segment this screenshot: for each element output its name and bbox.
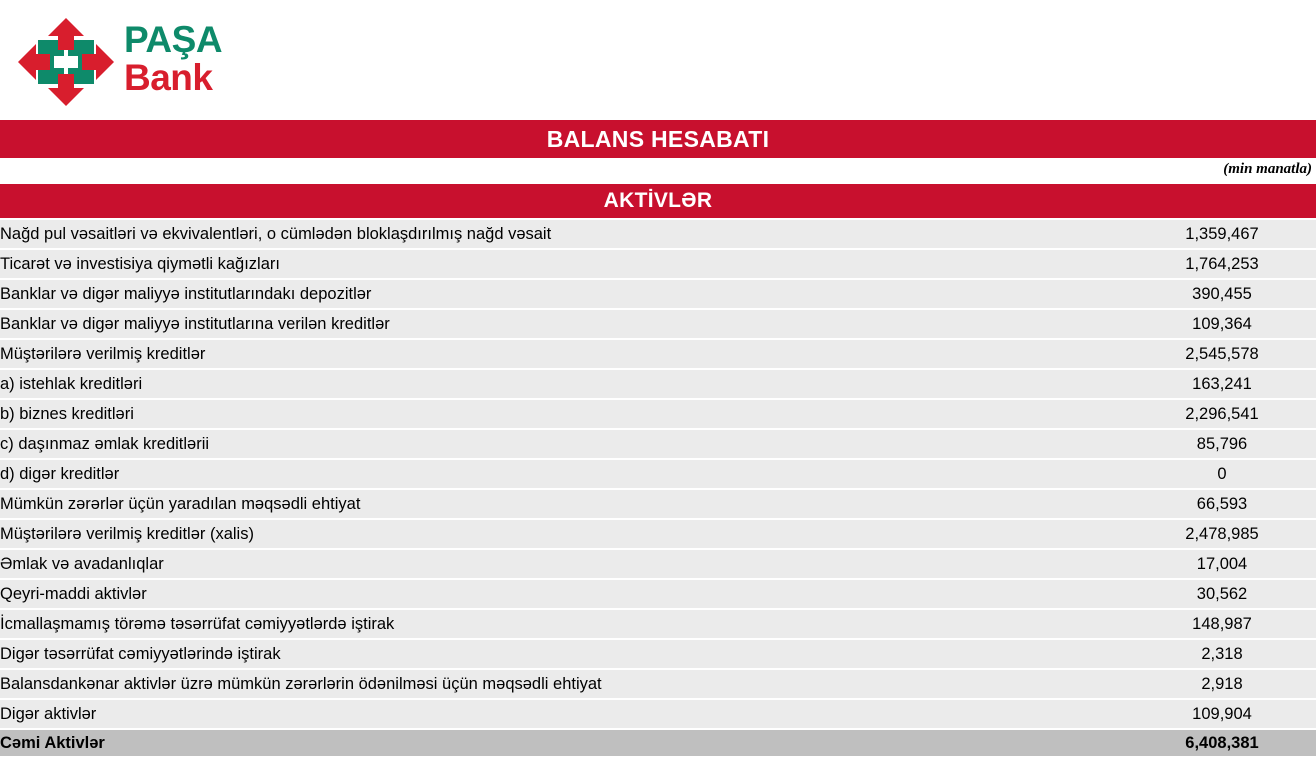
row-spacer-cell bbox=[1090, 520, 1128, 548]
row-label: Nağd pul vəsaitləri və ekvivalentləri, o… bbox=[0, 220, 1090, 248]
table-row: Banklar və digər maliyyə institutlarında… bbox=[0, 280, 1316, 308]
table-row: Mümkün zərərlər üçün yaradılan məqsədli … bbox=[0, 490, 1316, 518]
report-title: BALANS HESABATI bbox=[0, 120, 1316, 158]
row-spacer-cell bbox=[1090, 550, 1128, 578]
table-row: c) daşınmaz əmlak kreditlərii85,796 bbox=[0, 430, 1316, 458]
row-spacer-cell bbox=[1090, 670, 1128, 698]
row-spacer-cell bbox=[1090, 490, 1128, 518]
row-label: Müştərilərə verilmiş kreditlər (xalis) bbox=[0, 520, 1090, 548]
table-row: Qeyri-maddi aktivlər30,562 bbox=[0, 580, 1316, 608]
currency-unit-note: (min manatla) bbox=[1223, 161, 1312, 178]
row-label: a) istehlak kreditləri bbox=[0, 370, 1090, 398]
row-spacer-cell bbox=[1090, 430, 1128, 458]
table-row: Banklar və digər maliyyə institutlarına … bbox=[0, 310, 1316, 338]
total-value: 6,408,381 bbox=[1128, 730, 1316, 756]
row-spacer-cell bbox=[1090, 280, 1128, 308]
row-value: 85,796 bbox=[1128, 430, 1316, 458]
row-value: 148,987 bbox=[1128, 610, 1316, 638]
row-spacer-cell bbox=[1090, 580, 1128, 608]
row-spacer-cell bbox=[1090, 610, 1128, 638]
row-value: 30,562 bbox=[1128, 580, 1316, 608]
table-row: a) istehlak kreditləri163,241 bbox=[0, 370, 1316, 398]
row-label: Digər təsərrüfat cəmiyyətlərində iştirak bbox=[0, 640, 1090, 668]
row-value: 2,918 bbox=[1128, 670, 1316, 698]
section-header-assets: AKTİVLƏR bbox=[0, 184, 1316, 218]
brand-word-pasha: PAŞA bbox=[124, 22, 222, 58]
table-row: Müştərilərə verilmiş kreditlər2,545,578 bbox=[0, 340, 1316, 368]
row-spacer-cell bbox=[1090, 340, 1128, 368]
unit-note-row: (min manatla) bbox=[0, 158, 1316, 184]
row-label: Banklar və digər maliyyə institutlarına … bbox=[0, 310, 1090, 338]
row-value: 66,593 bbox=[1128, 490, 1316, 518]
row-value: 109,904 bbox=[1128, 700, 1316, 728]
row-spacer-cell bbox=[1090, 370, 1128, 398]
row-value: 109,364 bbox=[1128, 310, 1316, 338]
row-spacer-cell bbox=[1090, 310, 1128, 338]
row-label: c) daşınmaz əmlak kreditlərii bbox=[0, 430, 1090, 458]
row-value: 0 bbox=[1128, 460, 1316, 488]
table-row: d) digər kreditlər0 bbox=[0, 460, 1316, 488]
row-label: İcmallaşmamış törəmə təsərrüfat cəmiyyət… bbox=[0, 610, 1090, 638]
row-label: d) digər kreditlər bbox=[0, 460, 1090, 488]
row-label: Qeyri-maddi aktivlər bbox=[0, 580, 1090, 608]
row-value: 163,241 bbox=[1128, 370, 1316, 398]
row-label: Digər aktivlər bbox=[0, 700, 1090, 728]
table-row: Digər təsərrüfat cəmiyyətlərində iştirak… bbox=[0, 640, 1316, 668]
brand-word-bank: Bank bbox=[124, 60, 222, 96]
pasha-pinwheel-logo-icon bbox=[16, 16, 116, 108]
table-row: Digər aktivlər109,904 bbox=[0, 700, 1316, 728]
brand-header: PAŞA Bank bbox=[0, 0, 1316, 120]
row-value: 390,455 bbox=[1128, 280, 1316, 308]
row-value: 17,004 bbox=[1128, 550, 1316, 578]
row-label: Müştərilərə verilmiş kreditlər bbox=[0, 340, 1090, 368]
row-spacer-cell bbox=[1090, 400, 1128, 428]
row-label: Ticarət və investisiya qiymətli kağızlar… bbox=[0, 250, 1090, 278]
row-value: 2,478,985 bbox=[1128, 520, 1316, 548]
table-row: Müştərilərə verilmiş kreditlər (xalis)2,… bbox=[0, 520, 1316, 548]
row-value: 1,359,467 bbox=[1128, 220, 1316, 248]
row-value: 2,545,578 bbox=[1128, 340, 1316, 368]
balance-sheet-table: Nağd pul vəsaitləri və ekvivalentləri, o… bbox=[0, 218, 1316, 758]
row-spacer-cell bbox=[1090, 700, 1128, 728]
row-value: 1,764,253 bbox=[1128, 250, 1316, 278]
brand-wordmark: PAŞA Bank bbox=[124, 22, 222, 97]
table-row: Nağd pul vəsaitləri və ekvivalentləri, o… bbox=[0, 220, 1316, 248]
row-label: Balansdankənar aktivlər üzrə mümkün zərə… bbox=[0, 670, 1090, 698]
row-value: 2,296,541 bbox=[1128, 400, 1316, 428]
row-label: Mümkün zərərlər üçün yaradılan məqsədli … bbox=[0, 490, 1090, 518]
row-value: 2,318 bbox=[1128, 640, 1316, 668]
row-spacer-cell bbox=[1090, 250, 1128, 278]
row-spacer-cell bbox=[1090, 220, 1128, 248]
row-label: Əmlak və avadanlıqlar bbox=[0, 550, 1090, 578]
row-spacer-cell bbox=[1090, 640, 1128, 668]
total-row: Cəmi Aktivlər6,408,381 bbox=[0, 730, 1316, 756]
table-row: Ticarət və investisiya qiymətli kağızlar… bbox=[0, 250, 1316, 278]
table-row: Əmlak və avadanlıqlar17,004 bbox=[0, 550, 1316, 578]
table-row: b) biznes kreditləri2,296,541 bbox=[0, 400, 1316, 428]
table-row: Balansdankənar aktivlər üzrə mümkün zərə… bbox=[0, 670, 1316, 698]
row-spacer-cell bbox=[1090, 460, 1128, 488]
table-row: İcmallaşmamış törəmə təsərrüfat cəmiyyət… bbox=[0, 610, 1316, 638]
row-label: Banklar və digər maliyyə institutlarında… bbox=[0, 280, 1090, 308]
total-spacer-cell bbox=[1090, 730, 1128, 756]
row-label: b) biznes kreditləri bbox=[0, 400, 1090, 428]
total-label: Cəmi Aktivlər bbox=[0, 730, 1090, 756]
